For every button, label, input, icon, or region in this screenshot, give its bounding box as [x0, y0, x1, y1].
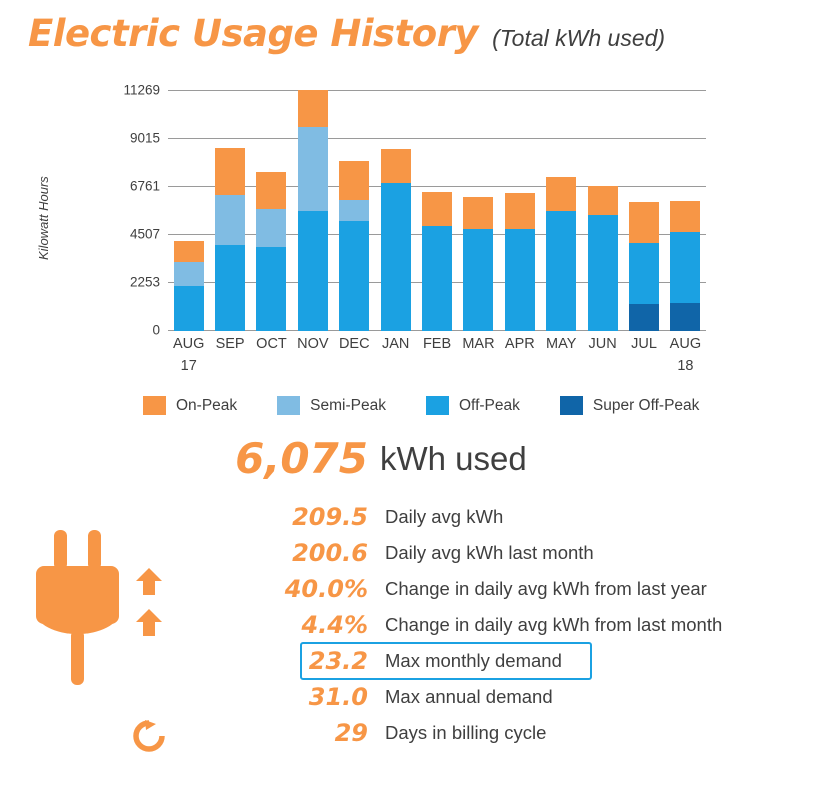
chart-bar-segment: [670, 201, 700, 232]
stat-label: Days in billing cycle: [385, 716, 546, 750]
chart-bar[interactable]: [256, 172, 286, 331]
legend-swatch: [277, 396, 300, 415]
x-axis-labels: AUGSEPOCTNOVDECJANFEBMARAPRMAYJUNJULAUG: [168, 336, 706, 352]
chart-bar-slot: [168, 91, 209, 331]
y-axis-title: Kilowatt Hours: [36, 176, 51, 260]
chart-plot-area: 0225345076761901511269: [168, 91, 706, 331]
chart-bar-segment: [256, 247, 286, 331]
chart-bar[interactable]: [422, 192, 452, 331]
plug-icon: [28, 530, 128, 690]
chart-bar-segment: [463, 197, 493, 229]
chart-bar-segment: [422, 226, 452, 331]
chart-bar-slot: [416, 91, 457, 331]
legend-swatch: [560, 396, 583, 415]
chart-bar-slot: [499, 91, 540, 331]
stat-label: Daily avg kWh last month: [385, 536, 594, 570]
x-axis-year-label: [458, 358, 499, 374]
x-axis-year-labels: 1718: [168, 358, 706, 374]
stat-label: Change in daily avg kWh from last year: [385, 572, 707, 606]
x-axis-year-label: [375, 358, 416, 374]
chart-bar-slot: [209, 91, 250, 331]
chart-bar-segment: [298, 90, 328, 126]
legend-item[interactable]: Super Off-Peak: [560, 396, 700, 415]
headline-value: 6,075: [140, 435, 368, 483]
x-axis-year-label: 17: [168, 358, 209, 374]
chart-bar-segment: [546, 211, 576, 331]
chart-bar[interactable]: [174, 241, 204, 332]
x-axis-tick-label: SEP: [209, 336, 250, 352]
y-axis-tick-label: 9015: [130, 131, 160, 146]
headline-stat: 6,075 kWh used: [0, 435, 823, 483]
chart-bar[interactable]: [505, 193, 535, 331]
x-axis-year-label: [499, 358, 540, 374]
chart-bar-segment: [629, 304, 659, 331]
chart-bar-slot: [251, 91, 292, 331]
chart-bar-slot: [541, 91, 582, 331]
chart-bar-segment: [629, 202, 659, 242]
refresh-icon: [131, 718, 167, 759]
stat-value: 4.4%: [140, 608, 368, 642]
y-axis-tick-label: 0: [152, 323, 160, 338]
chart-bar[interactable]: [463, 197, 493, 331]
stat-value: 31.0: [140, 680, 368, 714]
x-axis-year-label: [416, 358, 457, 374]
page-header: Electric Usage History (Total kWh used): [28, 12, 665, 55]
chart-bar[interactable]: [588, 186, 618, 331]
legend-label: Semi-Peak: [310, 397, 386, 415]
chart-bar-segment: [629, 243, 659, 305]
legend-swatch: [143, 396, 166, 415]
chart-bar-segment: [298, 127, 328, 211]
chart-bar-segment: [174, 241, 204, 262]
chart-bar[interactable]: [546, 177, 576, 331]
chart-bar-segment: [381, 149, 411, 183]
chart-bar[interactable]: [381, 149, 411, 331]
page-subtitle: (Total kWh used): [492, 25, 665, 52]
stat-value: 23.2: [140, 644, 368, 678]
chart-bar-segment: [215, 245, 245, 331]
chart-bar-segment: [174, 286, 204, 331]
y-axis-tick-label: 6761: [130, 179, 160, 194]
stat-label: Max monthly demand: [385, 644, 562, 678]
chart-bar-slot: [334, 91, 375, 331]
stat-label: Change in daily avg kWh from last month: [385, 608, 722, 642]
x-axis-tick-label: NOV: [292, 336, 333, 352]
stat-label: Max annual demand: [385, 680, 553, 714]
chart-bar[interactable]: [629, 202, 659, 331]
chart-bar-slot: [375, 91, 416, 331]
legend-item[interactable]: Semi-Peak: [277, 396, 386, 415]
x-axis-tick-label: OCT: [251, 336, 292, 352]
chart-bar-segment: [588, 215, 618, 331]
chart-bar-segment: [422, 192, 452, 226]
chart-bar-segment: [298, 211, 328, 331]
legend-item[interactable]: On-Peak: [143, 396, 237, 415]
chart-bar-segment: [505, 229, 535, 331]
usage-chart: Kilowatt Hours 0225345076761901511269 AU…: [0, 78, 823, 398]
page-title: Electric Usage History: [28, 12, 478, 55]
chart-bars: [168, 91, 706, 331]
chart-bar-segment: [505, 193, 535, 229]
chart-legend: On-PeakSemi-PeakOff-PeakSuper Off-Peak: [143, 396, 739, 415]
x-axis-year-label: [582, 358, 623, 374]
headline-label: kWh used: [380, 435, 527, 483]
y-axis-tick-label: 4507: [130, 227, 160, 242]
chart-bar[interactable]: [670, 201, 700, 331]
x-axis-year-label: [334, 358, 375, 374]
x-axis-year-label: [541, 358, 582, 374]
x-axis-year-label: [623, 358, 664, 374]
chart-bar-segment: [670, 303, 700, 331]
y-axis-tick-label: 11269: [123, 83, 160, 98]
stat-value: 40.0%: [140, 572, 368, 606]
chart-bar-slot: [292, 91, 333, 331]
x-axis-tick-label: JUN: [582, 336, 623, 352]
y-axis-tick-label: 2253: [130, 275, 160, 290]
chart-bar-slot: [665, 91, 706, 331]
up-arrow-icon: [133, 566, 165, 601]
chart-bar-slot: [582, 91, 623, 331]
legend-label: On-Peak: [176, 397, 237, 415]
x-axis-year-label: [292, 358, 333, 374]
chart-bar[interactable]: [339, 161, 369, 331]
chart-bar-segment: [339, 161, 369, 200]
chart-bar-segment: [381, 183, 411, 331]
x-axis-tick-label: JAN: [375, 336, 416, 352]
chart-bar-segment: [215, 148, 245, 195]
chart-bar-slot: [623, 91, 664, 331]
chart-bar-segment: [463, 229, 493, 331]
x-axis-tick-label: FEB: [416, 336, 457, 352]
chart-bar-slot: [458, 91, 499, 331]
x-axis-year-label: [209, 358, 250, 374]
chart-bar-segment: [546, 177, 576, 211]
x-axis-tick-label: AUG: [665, 336, 706, 352]
x-axis-tick-label: AUG: [168, 336, 209, 352]
chart-bar-segment: [339, 200, 369, 221]
x-axis-year-label: 18: [665, 358, 706, 374]
x-axis-tick-label: APR: [499, 336, 540, 352]
x-axis-tick-label: JUL: [623, 336, 664, 352]
chart-bar-segment: [256, 209, 286, 247]
legend-swatch: [426, 396, 449, 415]
chart-bar-segment: [588, 186, 618, 215]
stat-value: 200.6: [140, 536, 368, 570]
x-axis-tick-label: MAY: [541, 336, 582, 352]
chart-bar-segment: [256, 172, 286, 208]
stat-label: Daily avg kWh: [385, 500, 503, 534]
x-axis-year-label: [251, 358, 292, 374]
stat-value: 29: [140, 716, 368, 750]
up-arrow-icon: [133, 607, 165, 642]
chart-bar[interactable]: [215, 148, 245, 331]
legend-item[interactable]: Off-Peak: [426, 396, 520, 415]
chart-bar-segment: [670, 232, 700, 303]
chart-bar-segment: [215, 195, 245, 245]
chart-bar-segment: [174, 262, 204, 286]
x-axis-tick-label: DEC: [334, 336, 375, 352]
stat-row: 29Days in billing cycle: [0, 716, 823, 752]
legend-label: Super Off-Peak: [593, 397, 700, 415]
legend-label: Off-Peak: [459, 397, 520, 415]
stat-value: 209.5: [140, 500, 368, 534]
x-axis-tick-label: MAR: [458, 336, 499, 352]
chart-bar[interactable]: [298, 90, 328, 331]
chart-bar-segment: [339, 221, 369, 331]
